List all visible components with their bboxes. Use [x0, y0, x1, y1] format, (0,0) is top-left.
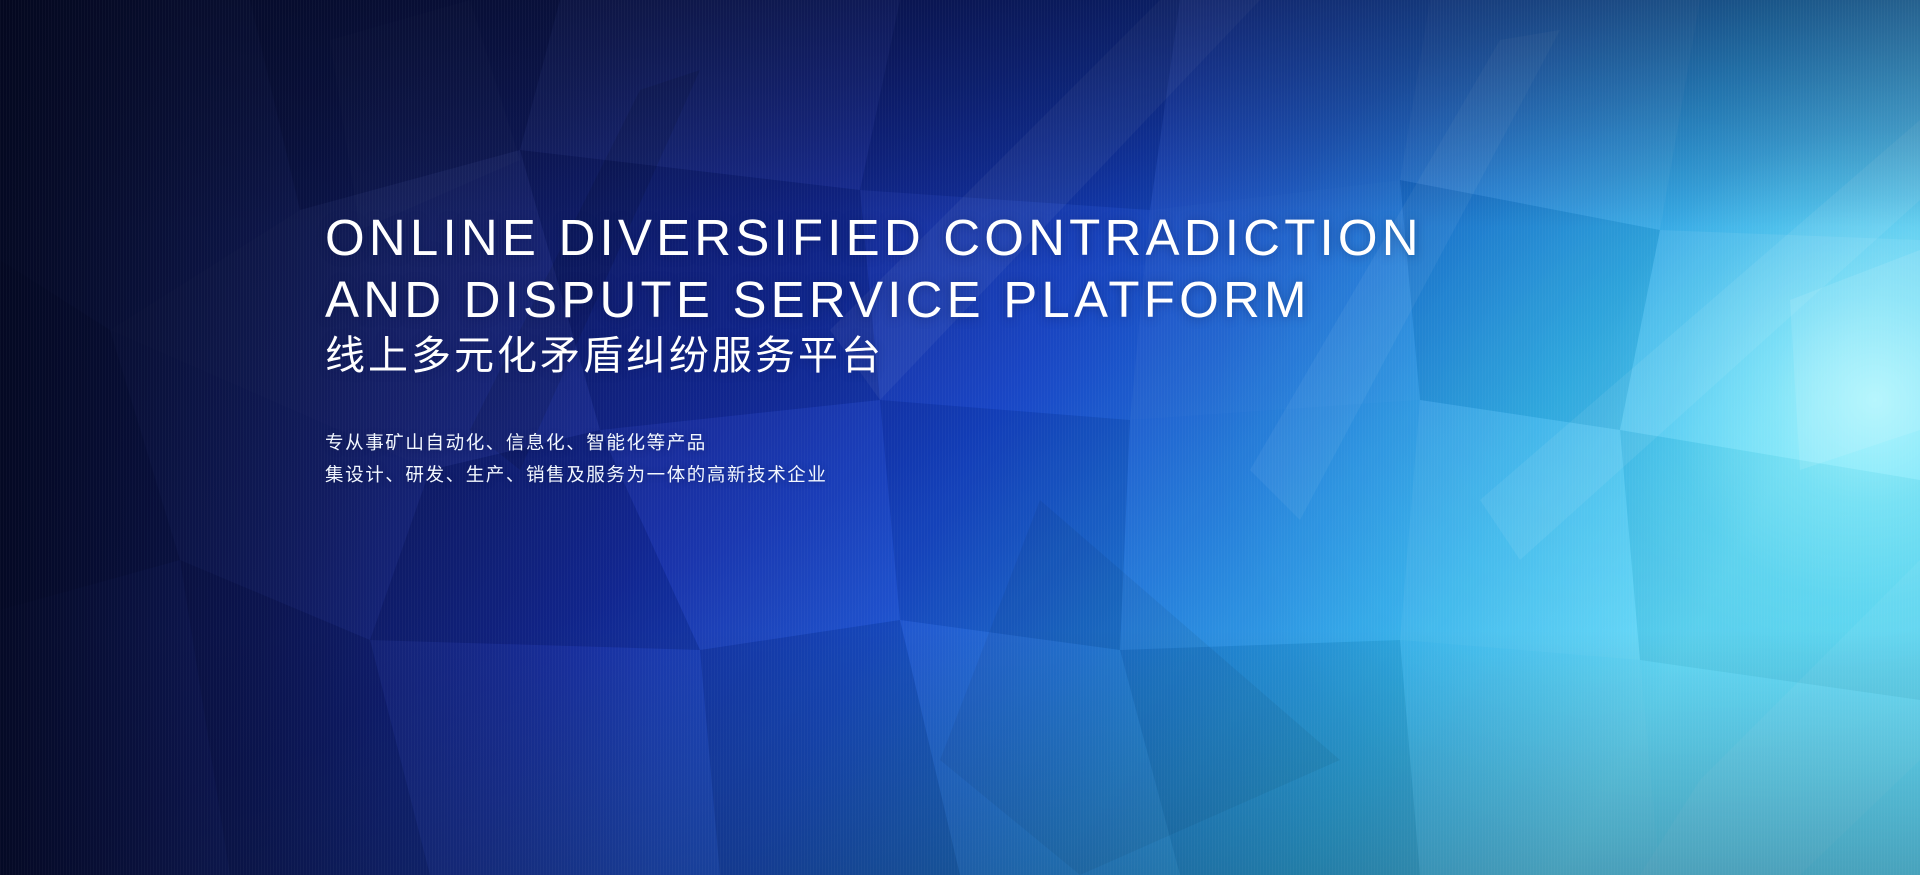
- hero-banner: ONLINE DIVERSIFIED CONTRADICTION AND DIS…: [0, 0, 1920, 875]
- page-title: ONLINE DIVERSIFIED CONTRADICTION AND DIS…: [325, 207, 1575, 331]
- subtitle-chinese: 线上多元化矛盾纠纷服务平台: [325, 331, 1575, 381]
- title-english-line-2: AND DISPUTE SERVICE PLATFORM: [325, 269, 1575, 331]
- description-line-1: 专从事矿山自动化、信息化、智能化等产品: [325, 427, 1575, 459]
- hero-content: ONLINE DIVERSIFIED CONTRADICTION AND DIS…: [325, 207, 1575, 491]
- description-block: 专从事矿山自动化、信息化、智能化等产品 集设计、研发、生产、销售及服务为一体的高…: [325, 427, 1575, 491]
- title-english-line-1: ONLINE DIVERSIFIED CONTRADICTION: [325, 207, 1575, 269]
- description-line-2: 集设计、研发、生产、销售及服务为一体的高新技术企业: [325, 459, 1575, 491]
